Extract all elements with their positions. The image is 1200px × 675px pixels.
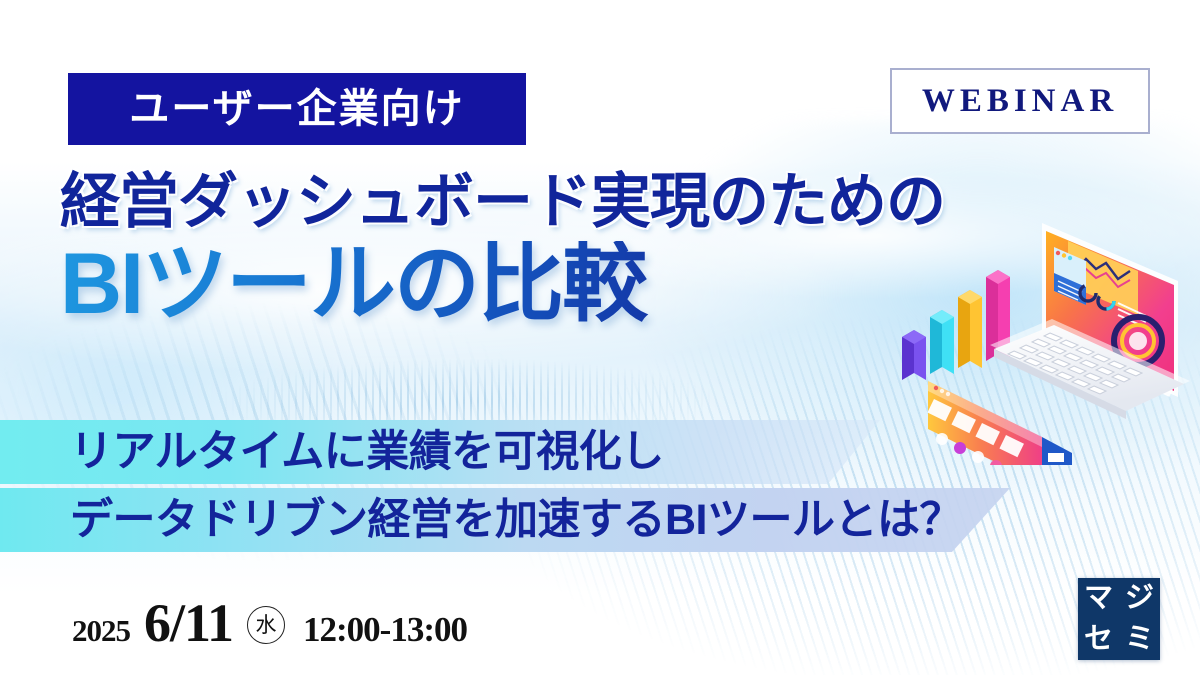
subtitle-line-2: データドリブン経営を加速するBIツールとは？ (70, 499, 962, 542)
schedule-day-of-week-badge: 水 (247, 606, 285, 644)
schedule-year: 2025 (72, 613, 130, 649)
schedule-line: 2025 6/11 水 12:00-13:00 (72, 592, 467, 654)
webinar-badge-label: WEBINAR (922, 85, 1118, 118)
category-badge: ユーザー企業向け (68, 73, 526, 145)
subtitle-band-1: リアルタイムに業績を可視化し (0, 420, 1200, 484)
subtitle-band-2: データドリブン経営を加速するBIツールとは？ (0, 488, 1200, 552)
headline-line-1: 経営ダッシュボード実現のための (60, 170, 945, 235)
headline-line-2: BIツールの比較 (60, 241, 945, 329)
subtitle-line-1: リアルタイムに業績を可視化し (70, 431, 664, 474)
schedule-time: 12:00-13:00 (303, 610, 467, 650)
majiseminar-logo: マ ジ セ ミ (1078, 578, 1160, 660)
schedule-day-of-week: 水 (256, 615, 277, 636)
logo-char-3: セ (1084, 625, 1113, 654)
logo-char-1: マ (1084, 584, 1113, 613)
schedule-month-day: 6/11 (144, 592, 233, 654)
webinar-badge: WEBINAR (890, 68, 1150, 134)
logo-char-2: ジ (1125, 584, 1154, 613)
logo-char-4: ミ (1125, 625, 1154, 654)
category-badge-label: ユーザー企業向け (129, 89, 464, 129)
subtitle-block: リアルタイムに業績を可視化し データドリブン経営を加速するBIツールとは？ (0, 420, 1200, 552)
webinar-banner: ユーザー企業向け WEBINAR 経営ダッシュボード実現のための BIツールの比… (0, 0, 1200, 675)
headline: 経営ダッシュボード実現のための BIツールの比較 (60, 170, 945, 329)
